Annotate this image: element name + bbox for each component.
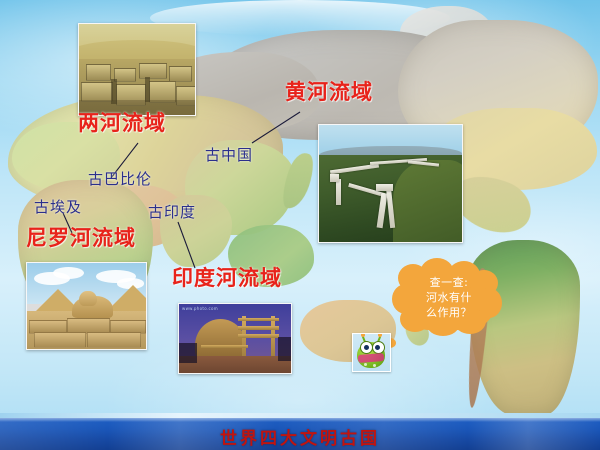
region-label-mesopotamia: 两河流域 (78, 113, 166, 134)
thought-bubble: 查一查: 河水有什 么作用？ (392, 258, 504, 344)
photo-great-wall (318, 124, 463, 243)
civilization-label-china: 古中国 (205, 148, 253, 163)
region-label-nile: 尼罗河流域 (26, 228, 136, 249)
thought-line-1: 查一查: (406, 275, 492, 290)
banner-sheen (0, 418, 600, 422)
bottom-banner: 世界四大文明古国 (0, 418, 600, 450)
photo-sanchi-stupa: www.photo.com (178, 303, 292, 374)
thought-line-2: 河水有什 (406, 290, 492, 305)
region-label-yellow-river: 黄河流域 (285, 82, 373, 103)
banner-title: 世界四大文明古国 (0, 424, 600, 449)
frog-mascot-icon (352, 333, 391, 372)
civilization-label-babylon: 古巴比伦 (88, 172, 152, 187)
photo-mesopotamia-ruins (78, 23, 196, 116)
civilization-label-egypt: 古埃及 (34, 200, 82, 215)
region-label-indus: 印度河流域 (172, 268, 282, 289)
thought-line-3: 么作用？ (406, 305, 492, 320)
photo-watermark: www.photo.com (182, 306, 218, 311)
slide-canvas: www.photo.com 两河流域 黄河流域 尼罗河流域 印度河流域 古巴比伦… (0, 0, 600, 450)
civilization-label-india: 古印度 (148, 205, 196, 220)
photo-pyramids-sphinx (26, 262, 147, 350)
thought-bubble-text: 查一查: 河水有什 么作用？ (406, 275, 492, 320)
